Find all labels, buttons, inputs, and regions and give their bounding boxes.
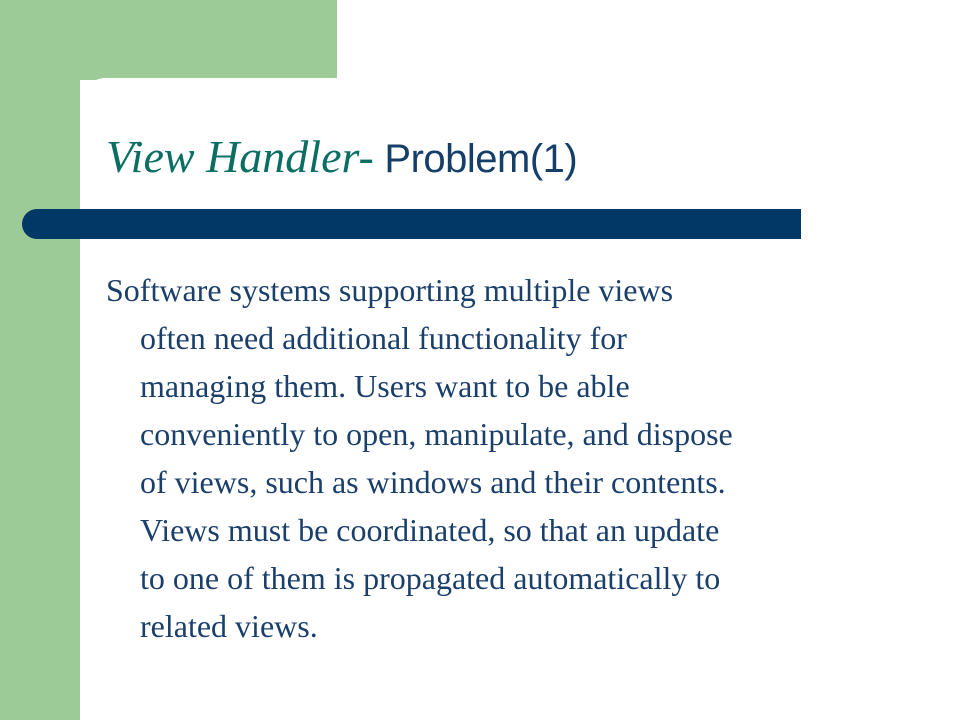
body-line: of views, such as windows and their cont… (106, 458, 936, 506)
body-line: Views must be coordinated, so that an up… (106, 506, 936, 554)
slide-title-primary: View Handler (106, 131, 358, 182)
title-divider-bar (22, 209, 801, 239)
presentation-slide: View Handler- Problem(1) Software system… (0, 0, 960, 720)
slide-title: View Handler- Problem(1) (106, 133, 926, 181)
slide-body-text: Software systems supporting multiple vie… (106, 266, 936, 650)
slide-title-secondary: Problem(1) (374, 137, 577, 181)
slide-title-dash: - (358, 131, 373, 182)
green-header-block (0, 0, 337, 80)
body-line: related views. (106, 602, 936, 650)
body-line: to one of them is propagated automatical… (106, 554, 936, 602)
body-line: Software systems supporting multiple vie… (106, 266, 936, 314)
body-line: often need additional functionality for (106, 314, 936, 362)
body-line: managing them. Users want to be able (106, 362, 936, 410)
body-line: conveniently to open, manipulate, and di… (106, 410, 936, 458)
green-sidebar-band (0, 0, 80, 720)
